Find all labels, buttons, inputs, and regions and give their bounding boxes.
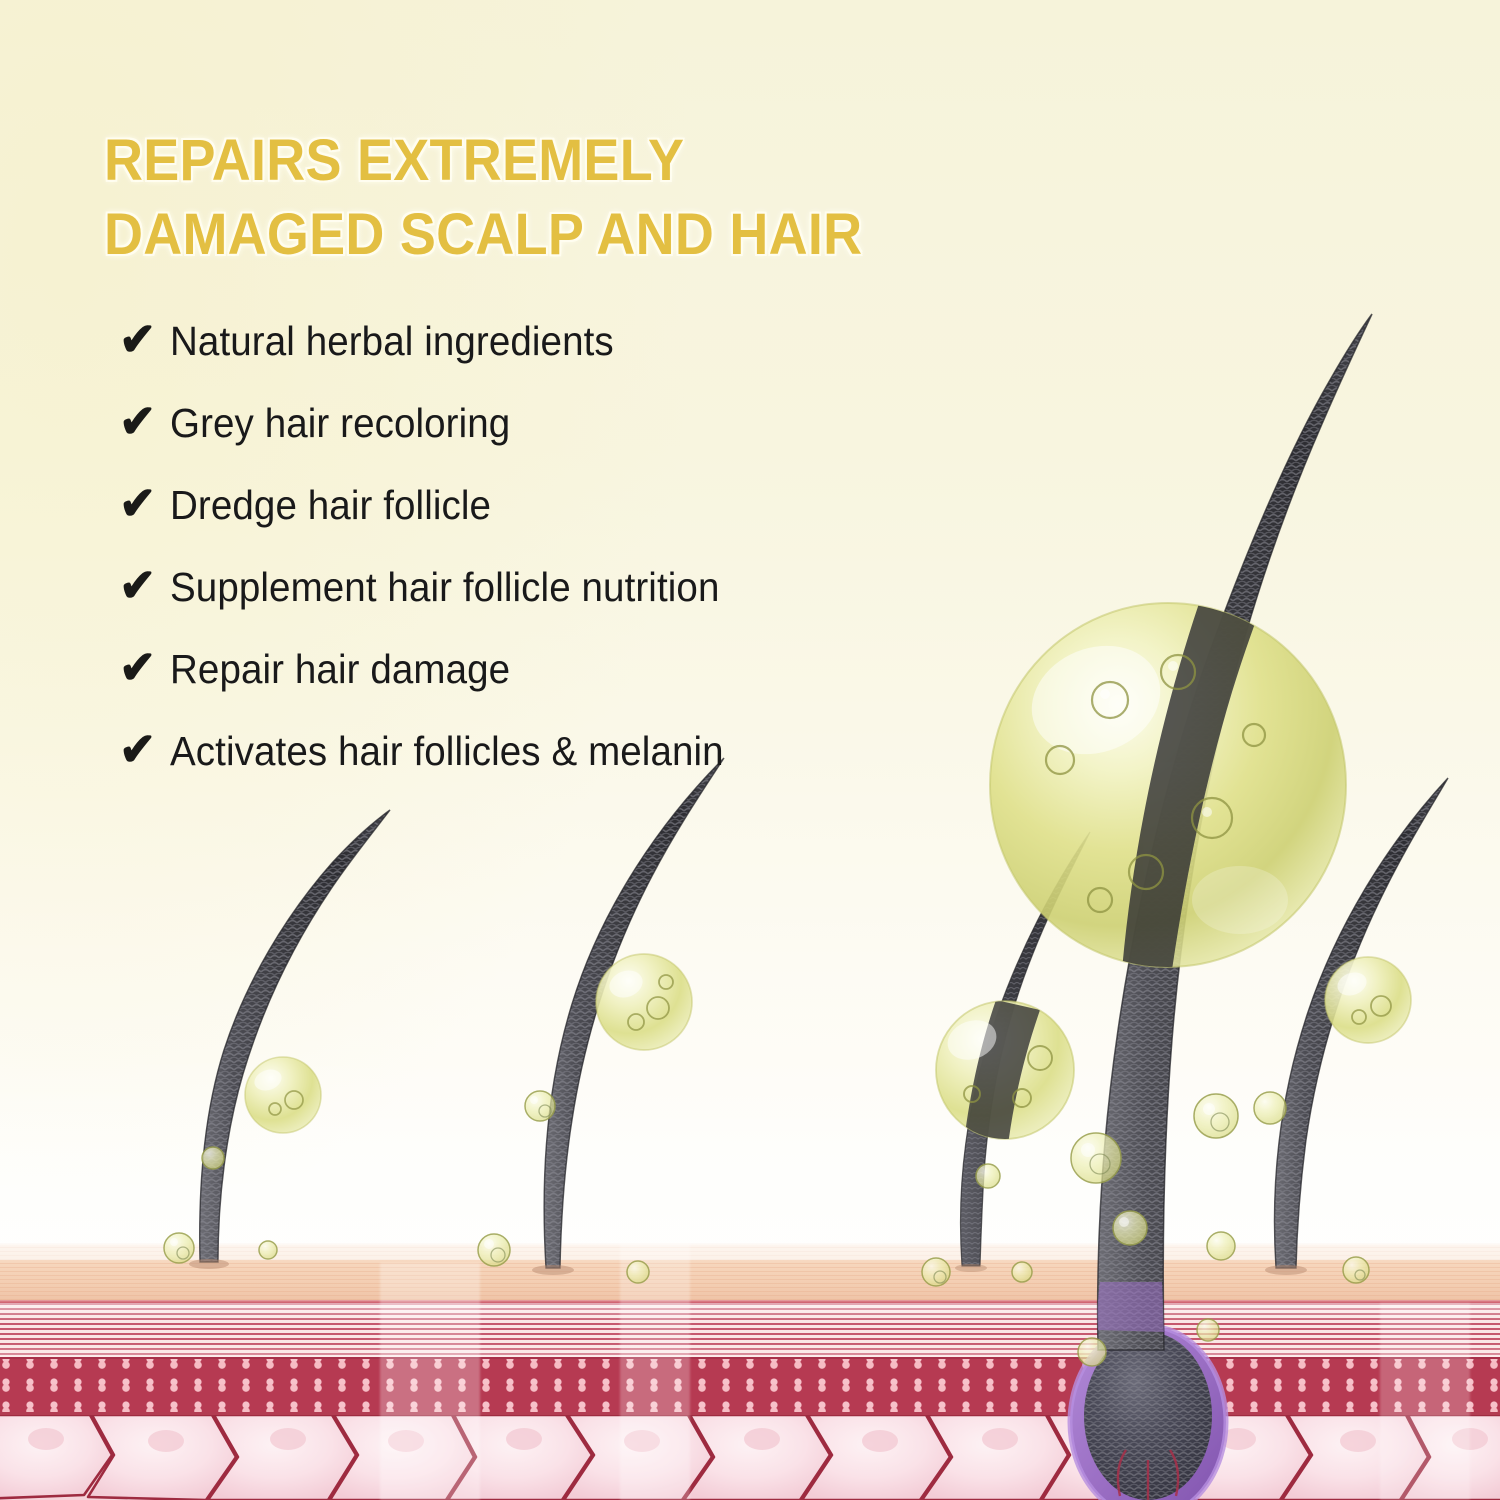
benefit-label: Dredge hair follicle — [170, 482, 491, 529]
check-icon: ✔ — [119, 562, 168, 608]
check-icon: ✔ — [119, 480, 168, 526]
benefit-label: Natural herbal ingredients — [170, 318, 614, 365]
benefit-label: Repair hair damage — [170, 646, 510, 693]
benefit-label: Supplement hair follicle nutrition — [170, 564, 719, 611]
benefit-item-6: ✔ Activates hair follicles & melanin — [118, 710, 1018, 792]
headline-line-1: REPAIRS EXTREMELY — [104, 124, 941, 198]
floating-serum-bubbles — [164, 1091, 1369, 1366]
serum-droplet-on-hair-2 — [596, 954, 692, 1050]
serum-droplet-on-hair-5 — [1325, 957, 1411, 1043]
benefit-item-2: ✔ Grey hair recoloring — [118, 382, 1018, 464]
page-title: REPAIRS EXTREMELY DAMAGED SCALP AND HAIR — [104, 124, 941, 272]
check-icon: ✔ — [119, 726, 168, 772]
benefits-list: ✔ Natural herbal ingredients ✔ Grey hair… — [118, 300, 1018, 792]
serum-droplet-on-hair-1 — [245, 1057, 321, 1133]
headline-line-2: DAMAGED SCALP AND HAIR — [104, 198, 941, 272]
benefit-item-4: ✔ Supplement hair follicle nutrition — [118, 546, 1018, 628]
check-icon: ✔ — [119, 398, 168, 444]
benefit-label: Grey hair recoloring — [170, 400, 510, 447]
check-icon: ✔ — [119, 316, 168, 362]
benefit-item-3: ✔ Dredge hair follicle — [118, 464, 1018, 546]
benefit-item-1: ✔ Natural herbal ingredients — [118, 300, 1018, 382]
serum-droplet-large — [990, 540, 1346, 970]
benefit-item-5: ✔ Repair hair damage — [118, 628, 1018, 710]
check-icon: ✔ — [119, 644, 168, 690]
hair-1-left — [180, 790, 410, 1280]
serum-droplet-medium-left — [936, 1000, 1074, 1162]
benefit-label: Activates hair follicles & melanin — [170, 728, 724, 775]
infographic-scene: REPAIRS EXTREMELY DAMAGED SCALP AND HAIR… — [0, 0, 1500, 1500]
